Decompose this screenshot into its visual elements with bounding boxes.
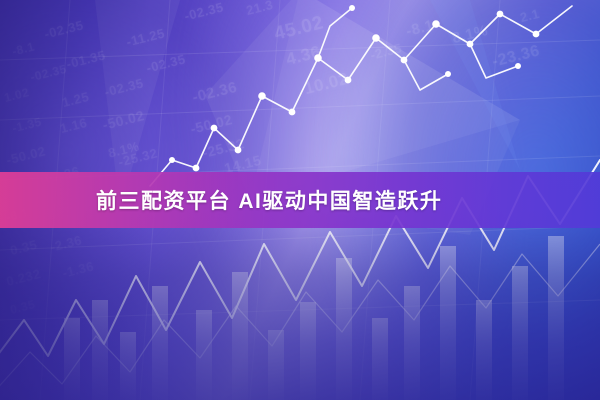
banner-image: -02.3545.0221.3-8.18.1%2.1-02.35-11.254.… [0, 0, 600, 400]
title-band: 前三配资平台 AI驱动中国智造跃升 [0, 172, 600, 228]
banner-title: 前三配资平台 AI驱动中国智造跃升 [0, 185, 442, 215]
